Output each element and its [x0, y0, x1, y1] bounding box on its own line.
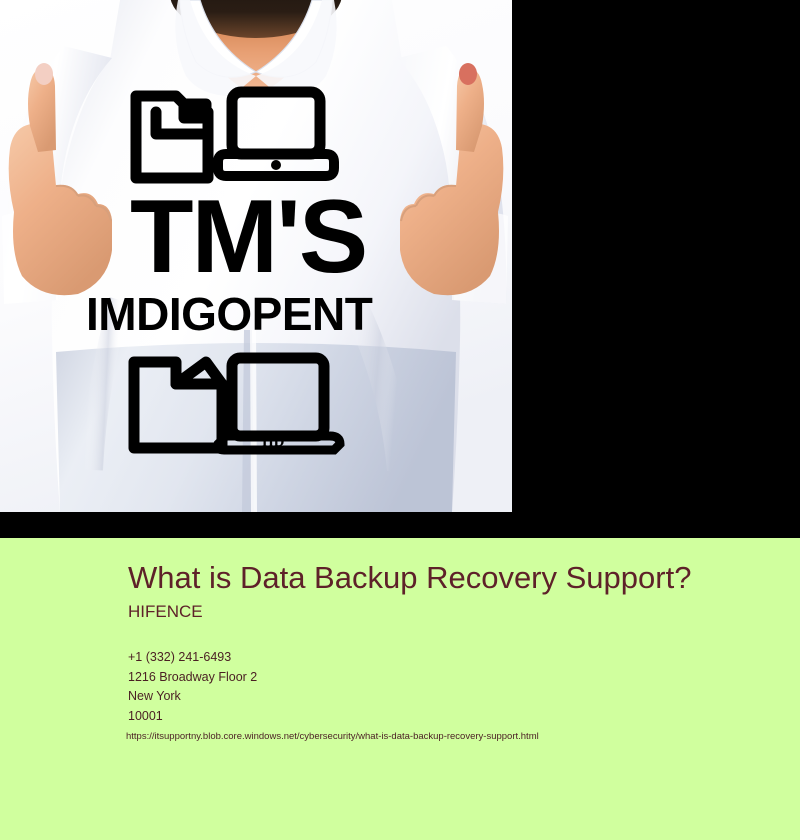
hero-image: TM'S IMDIGOPENT HD — [0, 0, 512, 512]
contact-street: 1216 Broadway Floor 2 — [128, 668, 688, 688]
page-title: What is Data Backup Recovery Support? — [128, 560, 691, 596]
laptop-badge-label: HD — [262, 434, 285, 450]
brand-label: HIFENCE — [128, 602, 203, 622]
contact-zip: 10001 — [128, 707, 688, 727]
contact-city: New York — [128, 687, 688, 707]
contact-phone[interactable]: +1 (332) 241-6493 — [128, 648, 688, 668]
shirt-headline: TM'S — [130, 179, 366, 295]
media-letterbox-band: TM'S IMDIGOPENT HD — [0, 0, 800, 538]
article-panel: What is Data Backup Recovery Support? HI… — [0, 538, 800, 840]
hero-illustration: TM'S IMDIGOPENT HD — [0, 0, 512, 512]
contact-block: +1 (332) 241-6493 1216 Broadway Floor 2 … — [128, 648, 688, 726]
source-url-link[interactable]: https://itsupportny.blob.core.windows.ne… — [126, 730, 539, 743]
shirt-subhead: IMDIGOPENT — [86, 288, 373, 340]
